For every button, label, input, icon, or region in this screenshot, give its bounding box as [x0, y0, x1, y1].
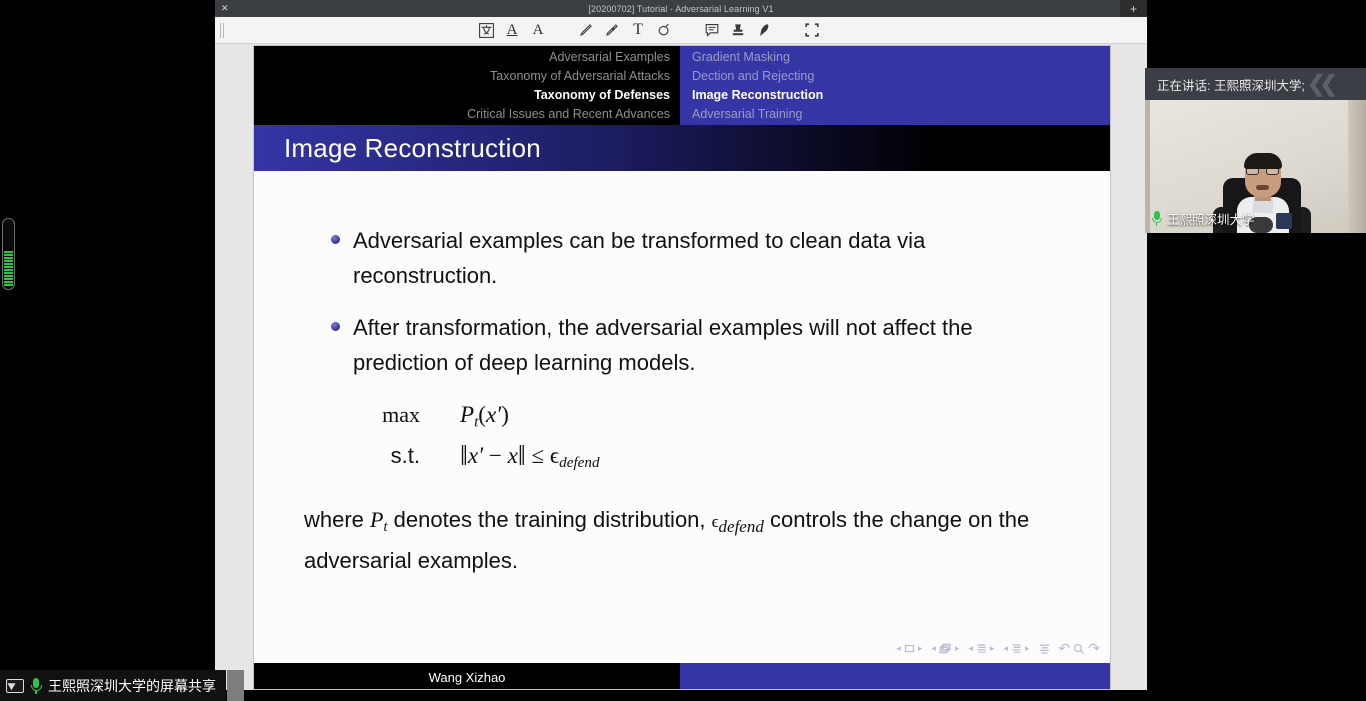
next-frame-button[interactable]: ▸ — [955, 644, 960, 653]
new-tab-button[interactable]: + — [1120, 0, 1147, 17]
history-nav-group: ↶ ↷ — [1059, 640, 1100, 657]
slide-nav-icon[interactable] — [904, 643, 915, 654]
screen-share-label: 王熙照深圳大学的屏幕共享 — [48, 676, 216, 696]
crop-select-icon[interactable] — [799, 18, 825, 42]
toolbar-group-text: A A — [473, 18, 551, 42]
meter-segment — [4, 275, 13, 277]
meter-segment — [4, 260, 13, 262]
formula-x: x — [486, 402, 496, 427]
close-icon[interactable]: ✕ — [221, 0, 229, 17]
speaker-video-panel[interactable]: 正在讲话: 王熙照深圳大学; ❮❮ 王熙照深圳大学 — [1145, 68, 1366, 233]
meter-segment — [4, 263, 13, 265]
back-nav-icon[interactable]: ↶ — [1059, 640, 1071, 657]
text-tool-icon[interactable]: T — [625, 18, 651, 42]
subsection-nav-icon[interactable] — [976, 643, 987, 655]
video-person-mouth — [1256, 185, 1269, 190]
window-titlebar: ✕ [20200702] Tutorial - Adversarial Lear… — [215, 0, 1147, 17]
next-section-button[interactable]: ▸ — [1025, 644, 1030, 653]
frame-nav-icon[interactable] — [939, 643, 952, 655]
formula-max-label: max — [300, 402, 420, 428]
video-wall-left — [1145, 100, 1150, 233]
shared-pdf-window: ✕ [20200702] Tutorial - Adversarial Lear… — [215, 0, 1147, 690]
participant-name-tag: 王熙照深圳大学 — [1151, 209, 1255, 228]
meter-segment — [4, 251, 13, 253]
bullet-text: Adversarial examples can be transformed … — [353, 228, 925, 288]
formula-minus: − — [489, 443, 502, 468]
formula-paren-close: ) — [501, 402, 509, 427]
screen-share-indicator[interactable]: 王熙照深圳大学的屏幕共享 — [0, 670, 226, 701]
bullet-dot-icon — [331, 322, 340, 331]
toc-nav-icon[interactable] — [1039, 643, 1050, 655]
formula-epsilon: ϵ — [550, 443, 559, 468]
explanation-epsilon-subscript: defend — [719, 517, 764, 536]
meter-segment — [4, 269, 13, 271]
list-item: Adversarial examples can be transformed … — [300, 223, 1064, 293]
highlighter-icon[interactable] — [599, 18, 625, 42]
prev-frame-button[interactable]: ◂ — [931, 644, 936, 653]
formula-paren-open: ( — [478, 402, 486, 427]
formula-objective-body: Pt(x′) — [420, 402, 509, 431]
audio-level-meter[interactable] — [2, 218, 15, 290]
slide-title-bar: Image Reconstruction — [254, 125, 1110, 171]
toolbar-group-markup — [699, 18, 777, 42]
slide-footer-right — [680, 663, 1110, 690]
meter-segment — [4, 281, 13, 283]
formula-norm-open: ‖ — [460, 441, 468, 472]
translate-icon[interactable] — [473, 18, 499, 42]
slide-footer: Wang Xizhao — [254, 663, 1110, 690]
speaking-indicator-bar: 正在讲话: 王熙照深圳大学; ❮❮ — [1145, 68, 1366, 100]
next-subsection-button[interactable]: ▸ — [990, 644, 995, 653]
explanation-part-2: denotes the training distribution, — [388, 507, 712, 532]
shape-tool-icon[interactable] — [651, 18, 677, 42]
microphone-icon — [30, 678, 42, 694]
explanation-P: P — [370, 507, 383, 532]
meter-segment — [4, 284, 13, 286]
pdf-page-area[interactable]: Adversarial Examples Taxonomy of Adversa… — [215, 44, 1147, 690]
prev-section-button[interactable]: ◂ — [1003, 644, 1008, 653]
slide-title: Image Reconstruction — [284, 133, 541, 164]
prev-subsection-button[interactable]: ◂ — [968, 644, 973, 653]
list-item: After transformation, the adversarial ex… — [300, 310, 1064, 380]
slide-section-nav: Adversarial Examples Taxonomy of Adversa… — [254, 46, 1110, 125]
slide-subsection-nav: Gradient Masking Dection and Rejecting I… — [680, 46, 1110, 125]
stamp-icon[interactable] — [725, 18, 751, 42]
video-wall-edge — [1348, 100, 1366, 233]
participant-name: 王熙照深圳大学 — [1167, 209, 1255, 228]
chevron-down-icon[interactable]: ❮❮ — [1307, 71, 1332, 97]
meter-segment — [4, 272, 13, 274]
explanation-part-1: where — [304, 507, 370, 532]
formula-epsilon-subscript: defend — [559, 454, 599, 471]
participant-video[interactable]: 王熙照深圳大学 — [1145, 100, 1366, 233]
formula-x-prime: x — [468, 443, 478, 468]
nav-subsection-item-active[interactable]: Image Reconstruction — [692, 86, 823, 104]
zoom-screen-share-view: ✕ [20200702] Tutorial - Adversarial Lear… — [0, 0, 1366, 701]
formula-explanation: where Pt denotes the training distributi… — [300, 503, 1064, 577]
toolbar-drag-handle[interactable] — [220, 23, 224, 38]
formula-norm-close: ‖ — [518, 441, 526, 472]
video-person-hair — [1244, 153, 1282, 169]
formula-P: P — [460, 402, 474, 427]
slide-content: Adversarial examples can be transformed … — [254, 171, 1110, 663]
meter-segment — [4, 266, 13, 268]
formula-line-objective: max Pt(x′) — [300, 402, 1064, 431]
toolbar-group-select — [799, 18, 825, 42]
bullet-text: After transformation, the adversarial ex… — [353, 315, 973, 375]
formula-st-label: s.t. — [300, 443, 420, 469]
underline-text-icon[interactable]: A — [499, 18, 525, 42]
pen-icon[interactable] — [573, 18, 599, 42]
window-title: [20200702] Tutorial - Adversarial Learni… — [588, 4, 773, 14]
presentation-slide: Adversarial Examples Taxonomy of Adversa… — [253, 45, 1111, 690]
meter-segment — [4, 257, 13, 259]
next-slide-button[interactable]: ▸ — [918, 644, 923, 653]
speaking-indicator-label: 正在讲话: 王熙照深圳大学; — [1157, 75, 1305, 94]
section-nav-group: ◂ ▸ — [1003, 643, 1029, 655]
nav-subsection-item[interactable]: Gradient Masking — [692, 48, 790, 66]
nav-subsection-item[interactable]: Adversarial Training — [692, 105, 802, 123]
video-person-badge — [1276, 213, 1292, 229]
beamer-navigation-bar: ◂ ▸ ◂ — [896, 640, 1100, 657]
text-style-icon[interactable]: A — [525, 18, 551, 42]
forward-nav-icon[interactable]: ↷ — [1088, 640, 1100, 657]
meter-segment — [4, 278, 13, 280]
formula-leq: ≤ — [531, 443, 544, 468]
bullet-dot-icon — [331, 235, 340, 244]
meter-segment — [4, 254, 13, 256]
slide-footer-author: Wang Xizhao — [254, 663, 680, 690]
frame-nav-group: ◂ ▸ — [931, 643, 959, 655]
microphone-icon — [1151, 211, 1162, 226]
subsection-nav-group: ◂ ▸ — [968, 643, 994, 655]
toolbar-group-draw: T — [573, 18, 677, 42]
nav-subsection-item[interactable]: Dection and Rejecting — [692, 67, 814, 85]
formula-constraint-body: ‖x′ − x‖ ≤ ϵdefend — [420, 441, 600, 473]
slide-section-nav-left: Adversarial Examples Taxonomy of Adversa… — [254, 46, 680, 125]
formula-x: x — [508, 443, 518, 468]
explanation-epsilon: ϵ — [712, 512, 719, 531]
nav-section-item[interactable]: Taxonomy of Adversarial Attacks — [490, 67, 670, 85]
screen-share-bar-tail — [227, 670, 244, 701]
slide-nav-group: ◂ ▸ — [896, 643, 922, 654]
nav-section-item[interactable]: Critical Issues and Recent Advances — [467, 105, 670, 123]
nav-section-item-active[interactable]: Taxonomy of Defenses — [534, 86, 670, 104]
bullet-list: Adversarial examples can be transformed … — [300, 223, 1064, 380]
annotation-toolbar: A A — [215, 17, 1147, 44]
section-nav-icon[interactable] — [1011, 643, 1022, 655]
prev-slide-button[interactable]: ◂ — [896, 644, 901, 653]
signature-icon[interactable] — [751, 18, 777, 42]
formula-prime: ′ — [478, 443, 483, 468]
formula-line-constraint: s.t. ‖x′ − x‖ ≤ ϵdefend — [300, 441, 1064, 473]
comment-icon[interactable] — [699, 18, 725, 42]
screen-share-icon — [6, 679, 24, 693]
nav-section-item[interactable]: Adversarial Examples — [549, 48, 670, 66]
search-icon[interactable] — [1073, 643, 1085, 655]
optimization-formula: max Pt(x′) s.t. ‖x′ − x‖ ≤ ϵdefend — [300, 402, 1064, 473]
